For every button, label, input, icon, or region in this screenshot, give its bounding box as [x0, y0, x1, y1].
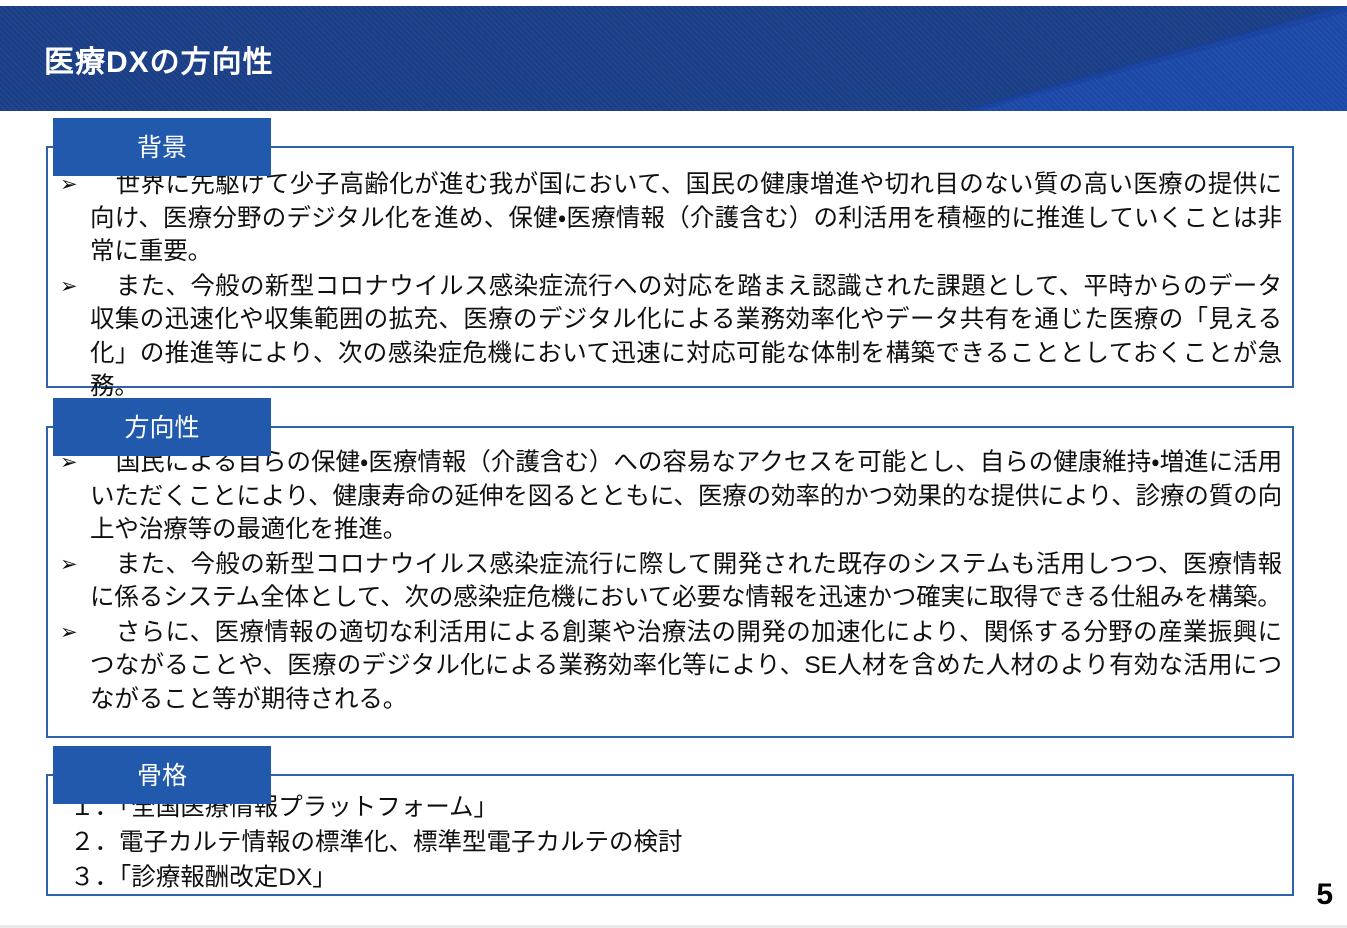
bullet-item: ➢ 世界に先駆けて少子高齢化が進む我が国において、国民の健康増進や切れ目のない質…: [56, 168, 1282, 269]
section-direction: 方向性 ➢ 国民による自らの保健・医療情報（介護含む）への容易なアクセスを可能と…: [46, 426, 1294, 738]
slide-header: 医療DXの方向性: [0, 6, 1347, 111]
section-tab-label: 方向性: [124, 408, 199, 444]
numbered-list-item: ３．「診療報酬改定DX」: [56, 860, 1282, 895]
slide-canvas: 医療DXの方向性 背景 ➢ 世界に先駆けて少子高齢化が進む我が国において、国民の…: [0, 0, 1347, 928]
section-body-background: ➢ 世界に先駆けて少子高齢化が進む我が国において、国民の健康増進や切れ目のない質…: [48, 148, 1292, 411]
bullet-text: 国民による自らの保健・医療情報（介護含む）への容易なアクセスを可能とし、自らの健…: [90, 446, 1282, 547]
section-framework: 骨格 １．「全国医療情報プラットフォーム」 ２．電子カルテ情報の標準化、標準型電…: [46, 774, 1294, 896]
page-title: 医療DXの方向性: [44, 6, 274, 111]
section-background: 背景 ➢ 世界に先駆けて少子高齢化が進む我が国において、国民の健康増進や切れ目の…: [46, 146, 1294, 388]
bullet-item: ➢ さらに、医療情報の適切な利活用による創薬や治療法の開発の加速化により、関係す…: [56, 616, 1282, 717]
bullet-item: ➢ 国民による自らの保健・医療情報（介護含む）への容易なアクセスを可能とし、自ら…: [56, 446, 1282, 547]
bullet-text: また、今般の新型コロナウイルス感染症流行への対応を踏まえ認識された課題として、平…: [90, 270, 1282, 404]
section-tab-framework: 骨格: [53, 746, 271, 804]
numbered-list-item: ２．電子カルテ情報の標準化、標準型電子カルテの検討: [56, 825, 1282, 860]
bullet-item: ➢ また、今般の新型コロナウイルス感染症流行への対応を踏まえ認識された課題として…: [56, 270, 1282, 404]
arrow-bullet-icon: ➢: [56, 548, 90, 582]
bullet-text: 世界に先駆けて少子高齢化が進む我が国において、国民の健康増進や切れ目のない質の高…: [90, 168, 1282, 269]
section-tab-label: 背景: [137, 128, 187, 164]
section-body-direction: ➢ 国民による自らの保健・医療情報（介護含む）への容易なアクセスを可能とし、自ら…: [48, 428, 1292, 723]
section-tab-direction: 方向性: [53, 398, 271, 456]
bullet-text: さらに、医療情報の適切な利活用による創薬や治療法の開発の加速化により、関係する分…: [90, 616, 1282, 717]
section-tab-background: 背景: [53, 118, 271, 176]
arrow-bullet-icon: ➢: [56, 616, 90, 650]
arrow-bullet-icon: ➢: [56, 270, 90, 304]
bullet-item: ➢ また、今般の新型コロナウイルス感染症流行に際して開発された既存のシステムも活…: [56, 548, 1282, 615]
bullet-text: また、今般の新型コロナウイルス感染症流行に際して開発された既存のシステムも活用し…: [90, 548, 1282, 615]
section-tab-label: 骨格: [137, 756, 187, 792]
page-number: 5: [1316, 878, 1333, 912]
